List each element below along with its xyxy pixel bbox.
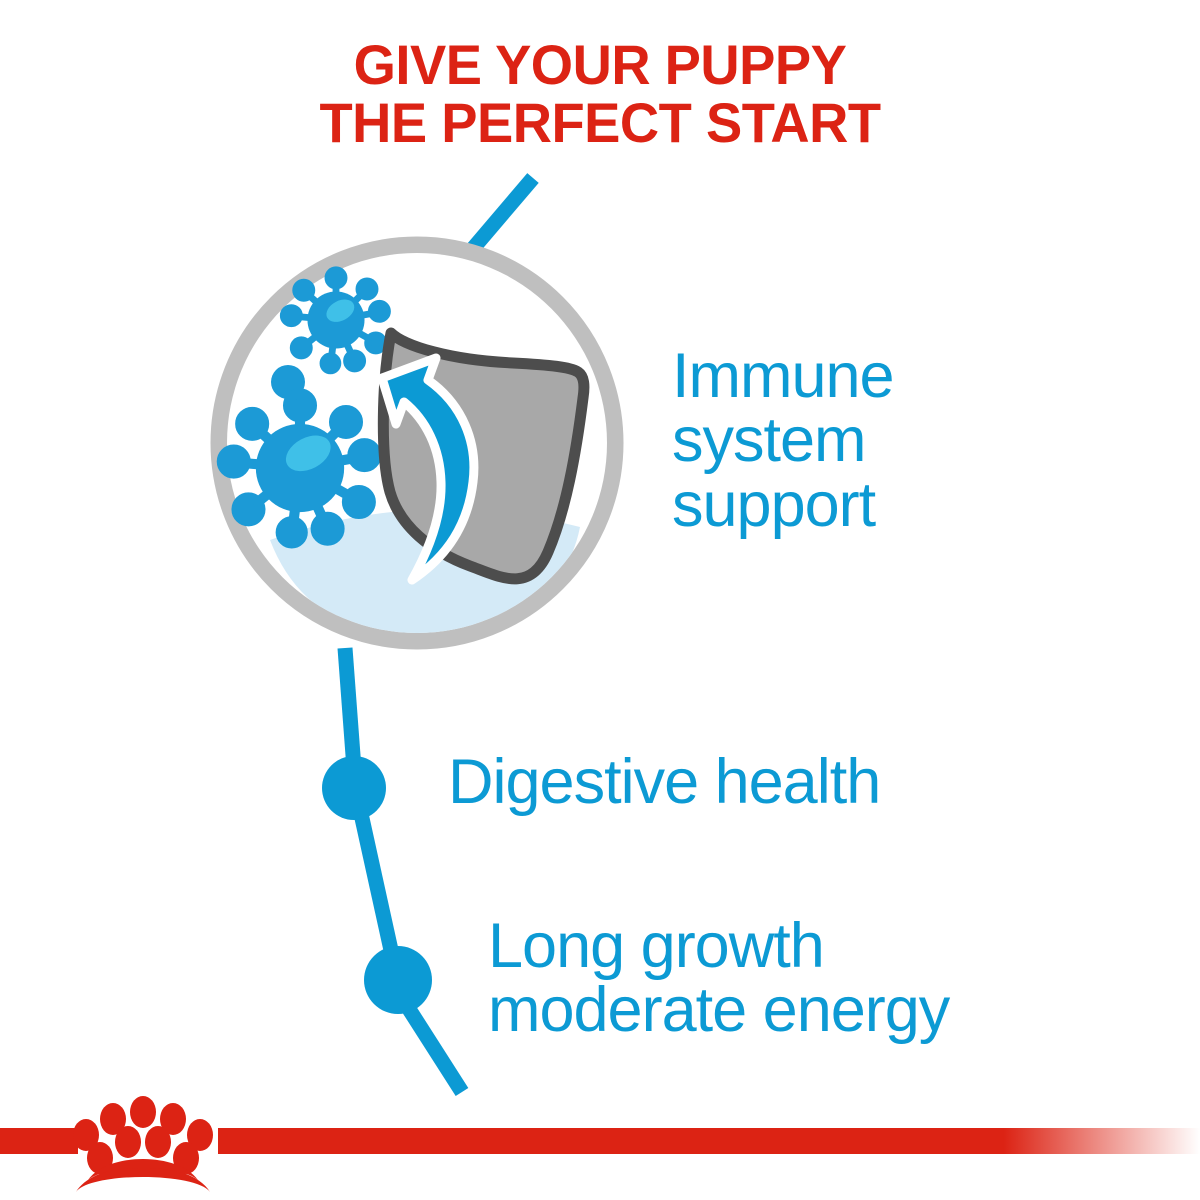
royal-canin-crown-logo — [73, 1096, 213, 1192]
benefit-label-digestive-health: Digestive health — [448, 750, 880, 814]
crown-dot — [145, 1126, 171, 1158]
crown-dot — [115, 1126, 141, 1158]
footer — [0, 1096, 1200, 1192]
immune-shield-icon — [219, 245, 615, 641]
footer-bar-right — [218, 1128, 1200, 1154]
connector-node-digestive — [322, 756, 386, 820]
connector-node-growth — [364, 946, 432, 1014]
crown-dot — [130, 1096, 156, 1128]
benefit-label-immune-system-support: Immune system support — [672, 344, 894, 537]
poster-canvas: GIVE YOUR PUPPY THE PERFECT START — [0, 0, 1200, 1200]
connector-segment-top — [470, 178, 533, 252]
footer-bar-left — [0, 1128, 78, 1154]
benefit-label-long-growth-moderate-energy: Long growth moderate energy — [488, 914, 949, 1043]
